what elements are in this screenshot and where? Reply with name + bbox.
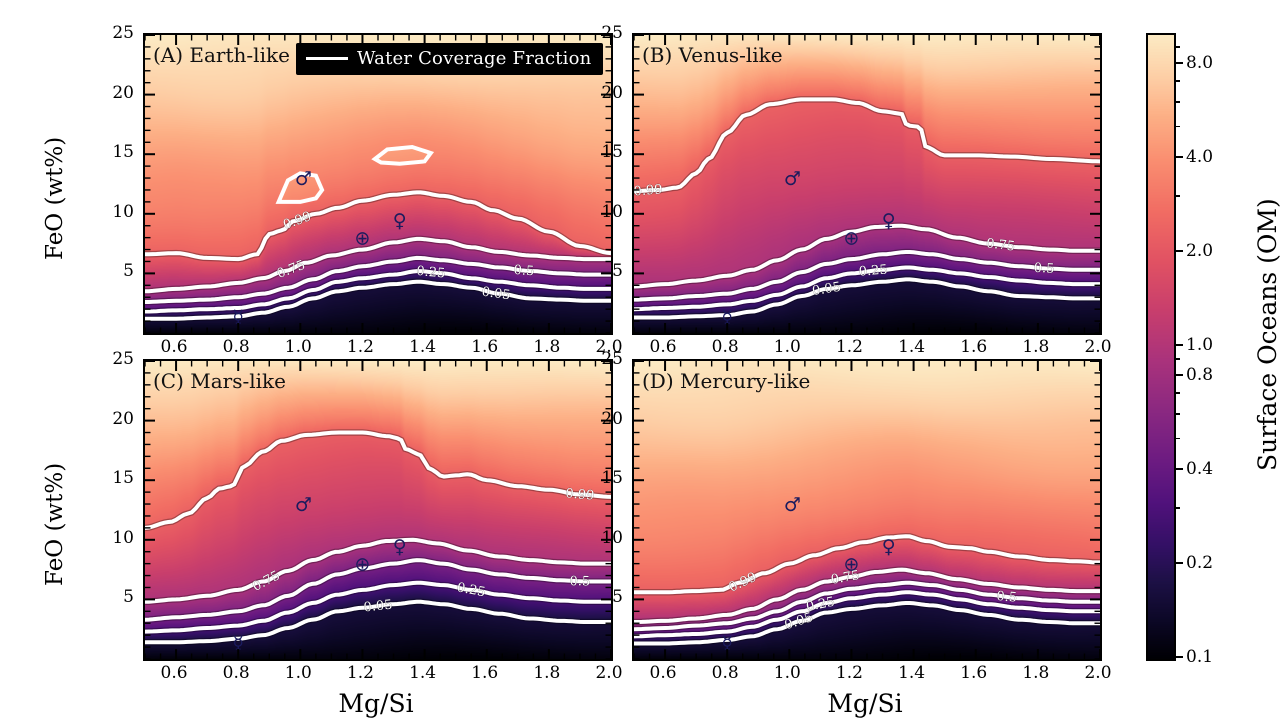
x-tick-label: 1.6 xyxy=(471,663,498,683)
y-tick-label: 5 xyxy=(123,587,134,607)
colorbar-gradient xyxy=(1148,35,1174,659)
y-tick-label: 15 xyxy=(112,142,134,162)
colorbar-tick-label: 2.0 xyxy=(1186,241,1213,261)
y-tick-label: 15 xyxy=(112,468,134,488)
x-tick-label: 2.0 xyxy=(595,663,622,683)
x-tick-label: 0.8 xyxy=(712,663,739,683)
colorbar-minor-tick xyxy=(1174,392,1180,394)
x-tick-label: 1.2 xyxy=(347,663,374,683)
x-axis-label: Mg/Si xyxy=(827,689,902,718)
venus-marker: ♀ xyxy=(882,536,896,558)
x-tick-label: 1.0 xyxy=(285,337,312,357)
contour-label-0.99: 0.99 xyxy=(565,486,595,503)
legend-line-swatch xyxy=(306,57,348,60)
panel-d-title: (D) Mercury-like xyxy=(642,369,810,393)
contour-label-0.05: 0.05 xyxy=(811,280,842,299)
contour-line-0.99 xyxy=(145,433,611,528)
y-axis-label: FeO (wt%) xyxy=(42,463,68,586)
x-tick-label: 0.6 xyxy=(161,337,188,357)
x-tick-label: 1.4 xyxy=(898,663,925,683)
contour-label-0.25: 0.25 xyxy=(455,580,486,600)
venus-marker: ♀ xyxy=(882,210,896,232)
panel-overlay-b: 0.990.750.50.250.05♂⊕♀☿ xyxy=(634,35,1100,333)
x-tick-label: 1.0 xyxy=(285,663,312,683)
y-tick-label: 5 xyxy=(123,261,134,281)
contour-label-0.25: 0.25 xyxy=(858,262,888,279)
panel-overlay-a: 0.990.750.50.250.05♂⊕♀☿ xyxy=(145,35,611,333)
panel-a-earth-like: 0.990.750.50.250.05♂⊕♀☿ xyxy=(143,33,613,335)
colorbar xyxy=(1146,33,1176,661)
contour-label-0.25: 0.25 xyxy=(416,264,446,282)
colorbar-tick xyxy=(1174,156,1183,158)
x-tick-label: 0.8 xyxy=(223,663,250,683)
panel-overlay-c: 0.990.750.50.250.05♂⊕♀☿ xyxy=(145,361,611,659)
colorbar-minor-tick xyxy=(1174,358,1180,360)
x-tick-label: 1.0 xyxy=(774,337,801,357)
x-tick-label: 0.6 xyxy=(161,663,188,683)
colorbar-tick-label: 4.0 xyxy=(1186,147,1213,167)
mars-marker: ♂ xyxy=(295,168,312,190)
contour-label-0.99: 0.99 xyxy=(634,182,663,199)
y-tick-label: 10 xyxy=(112,528,134,548)
x-tick-label: 0.8 xyxy=(712,337,739,357)
y-tick-label: 20 xyxy=(112,409,134,429)
y-tick-label: 15 xyxy=(601,142,623,162)
colorbar-tick xyxy=(1174,62,1183,64)
colorbar-tick xyxy=(1174,656,1183,658)
contour-label-0.5: 0.5 xyxy=(1033,261,1054,277)
contour-line-0.99 xyxy=(634,99,1100,191)
x-tick-label: 1.4 xyxy=(409,337,436,357)
y-tick-label: 10 xyxy=(112,202,134,222)
legend-water-coverage-fraction: Water Coverage Fraction xyxy=(296,43,603,75)
colorbar-minor-tick xyxy=(1174,126,1180,128)
contour-label-0.99: 0.99 xyxy=(281,209,313,233)
panel-a-title: (A) Earth-like xyxy=(153,43,290,67)
y-tick-label: 5 xyxy=(612,261,623,281)
x-tick-label: 0.8 xyxy=(223,337,250,357)
colorbar-tick-label: 1.0 xyxy=(1186,335,1213,355)
colorbar-minor-tick xyxy=(1174,46,1180,48)
x-tick-label: 1.8 xyxy=(533,337,560,357)
contour-island-0.99_island_2 xyxy=(375,147,431,164)
x-tick-label: 0.6 xyxy=(650,337,677,357)
contour-label-0.99: 0.99 xyxy=(727,570,760,596)
y-tick-label: 5 xyxy=(612,587,623,607)
colorbar-minor-tick xyxy=(1174,101,1180,103)
colorbar-tick xyxy=(1174,468,1183,470)
x-tick-label: 1.8 xyxy=(1022,663,1049,683)
earth-marker: ⊕ xyxy=(355,228,371,250)
contour-label-0.75: 0.75 xyxy=(250,568,283,595)
x-tick-label: 1.6 xyxy=(960,337,987,357)
colorbar-tick xyxy=(1174,344,1183,346)
y-tick-label: 20 xyxy=(112,83,134,103)
mars-marker: ♂ xyxy=(295,494,312,516)
x-tick-label: 2.0 xyxy=(1084,337,1111,357)
x-tick-label: 1.0 xyxy=(774,663,801,683)
colorbar-label: Surface Oceans (OM) xyxy=(1253,198,1280,471)
mars-marker: ♂ xyxy=(784,168,801,190)
panel-c-mars-like: 0.990.750.50.250.05♂⊕♀☿ xyxy=(143,359,613,661)
mars-marker: ♂ xyxy=(784,494,801,516)
panel-overlay-d: 0.990.750.50.250.05♂⊕♀☿ xyxy=(634,361,1100,659)
colorbar-minor-tick xyxy=(1174,80,1180,82)
y-tick-label: 25 xyxy=(112,23,134,43)
y-tick-label: 25 xyxy=(601,23,623,43)
y-tick-label: 10 xyxy=(601,202,623,222)
contour-label-0.5: 0.5 xyxy=(996,589,1018,606)
panel-c-title: (C) Mars-like xyxy=(153,369,286,393)
contour-halo-0.99 xyxy=(145,433,611,528)
y-axis-label: FeO (wt%) xyxy=(42,137,68,260)
x-tick-label: 2.0 xyxy=(1084,663,1111,683)
earth-marker: ⊕ xyxy=(844,228,860,250)
colorbar-tick-label: 0.2 xyxy=(1186,553,1213,573)
x-tick-label: 1.6 xyxy=(960,663,987,683)
colorbar-minor-tick xyxy=(1174,438,1180,440)
contour-label-0.5: 0.5 xyxy=(513,263,535,279)
x-tick-label: 1.4 xyxy=(898,337,925,357)
colorbar-tick xyxy=(1174,562,1183,564)
y-tick-label: 20 xyxy=(601,409,623,429)
x-tick-label: 1.2 xyxy=(836,337,863,357)
x-tick-label: 1.6 xyxy=(471,337,498,357)
contour-label-0.05: 0.05 xyxy=(363,598,393,616)
legend-label: Water Coverage Fraction xyxy=(357,48,591,69)
x-tick-label: 1.8 xyxy=(1022,337,1049,357)
contour-halo-0.99 xyxy=(634,99,1100,191)
colorbar-tick-label: 8.0 xyxy=(1186,53,1213,73)
colorbar-tick-label: 0.4 xyxy=(1186,459,1213,479)
colorbar-minor-tick xyxy=(1174,195,1180,197)
contour-label-0.75: 0.75 xyxy=(275,258,307,282)
contour-line-0.5 xyxy=(145,258,611,302)
colorbar-tick-label: 0.8 xyxy=(1186,365,1213,385)
contour-halo-0.75 xyxy=(145,540,611,602)
x-axis-label: Mg/Si xyxy=(338,689,413,718)
colorbar-tick xyxy=(1174,374,1183,376)
panel-d-mercury-like: 0.990.750.50.250.05♂⊕♀☿ xyxy=(632,359,1102,661)
contour-line-0.25 xyxy=(145,271,611,311)
earth-marker: ⊕ xyxy=(844,554,860,576)
x-tick-label: 1.8 xyxy=(533,663,560,683)
venus-marker: ♀ xyxy=(393,210,407,232)
x-tick-label: 1.4 xyxy=(409,663,436,683)
y-tick-label: 10 xyxy=(601,528,623,548)
panel-b-venus-like: 0.990.750.50.250.05♂⊕♀☿ xyxy=(632,33,1102,335)
y-tick-label: 25 xyxy=(112,349,134,369)
colorbar-minor-tick xyxy=(1174,507,1180,509)
earth-marker: ⊕ xyxy=(355,554,371,576)
colorbar-tick-label: 0.1 xyxy=(1186,647,1213,667)
y-tick-label: 15 xyxy=(601,468,623,488)
contour-label-0.5: 0.5 xyxy=(569,574,590,589)
colorbar-minor-tick xyxy=(1174,413,1180,415)
figure-canvas: 0.990.750.50.250.05♂⊕♀☿ (A) Earth-like 0… xyxy=(0,0,1280,717)
venus-marker: ♀ xyxy=(393,536,407,558)
x-tick-label: 0.6 xyxy=(650,663,677,683)
panel-b-title: (B) Venus-like xyxy=(642,43,783,67)
contour-label-0.75: 0.75 xyxy=(985,236,1016,254)
x-tick-label: 1.2 xyxy=(836,663,863,683)
x-tick-label: 1.2 xyxy=(347,337,374,357)
colorbar-tick xyxy=(1174,250,1183,252)
contour-label-0.05: 0.05 xyxy=(481,285,512,304)
y-tick-label: 20 xyxy=(601,83,623,103)
y-tick-label: 25 xyxy=(601,349,623,369)
